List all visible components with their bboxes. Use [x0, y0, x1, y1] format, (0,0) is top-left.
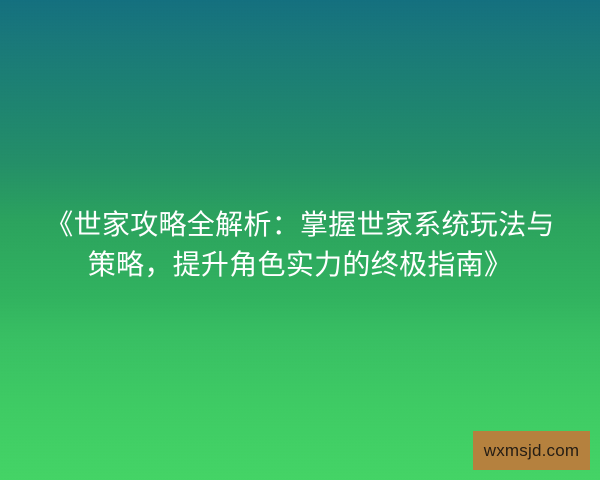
article-cover-image: 《世家攻略全解析：掌握世家系统玩法与 策略，提升角色实力的终极指南》 wxmsj… — [0, 0, 600, 480]
watermark-site-label: wxmsjd.com — [484, 442, 580, 459]
title-block: 《世家攻略全解析：掌握世家系统玩法与 策略，提升角色实力的终极指南》 — [0, 205, 600, 285]
page-title: 《世家攻略全解析：掌握世家系统玩法与 策略，提升角色实力的终极指南》 — [28, 205, 572, 285]
watermark-badge: wxmsjd.com — [473, 431, 590, 470]
